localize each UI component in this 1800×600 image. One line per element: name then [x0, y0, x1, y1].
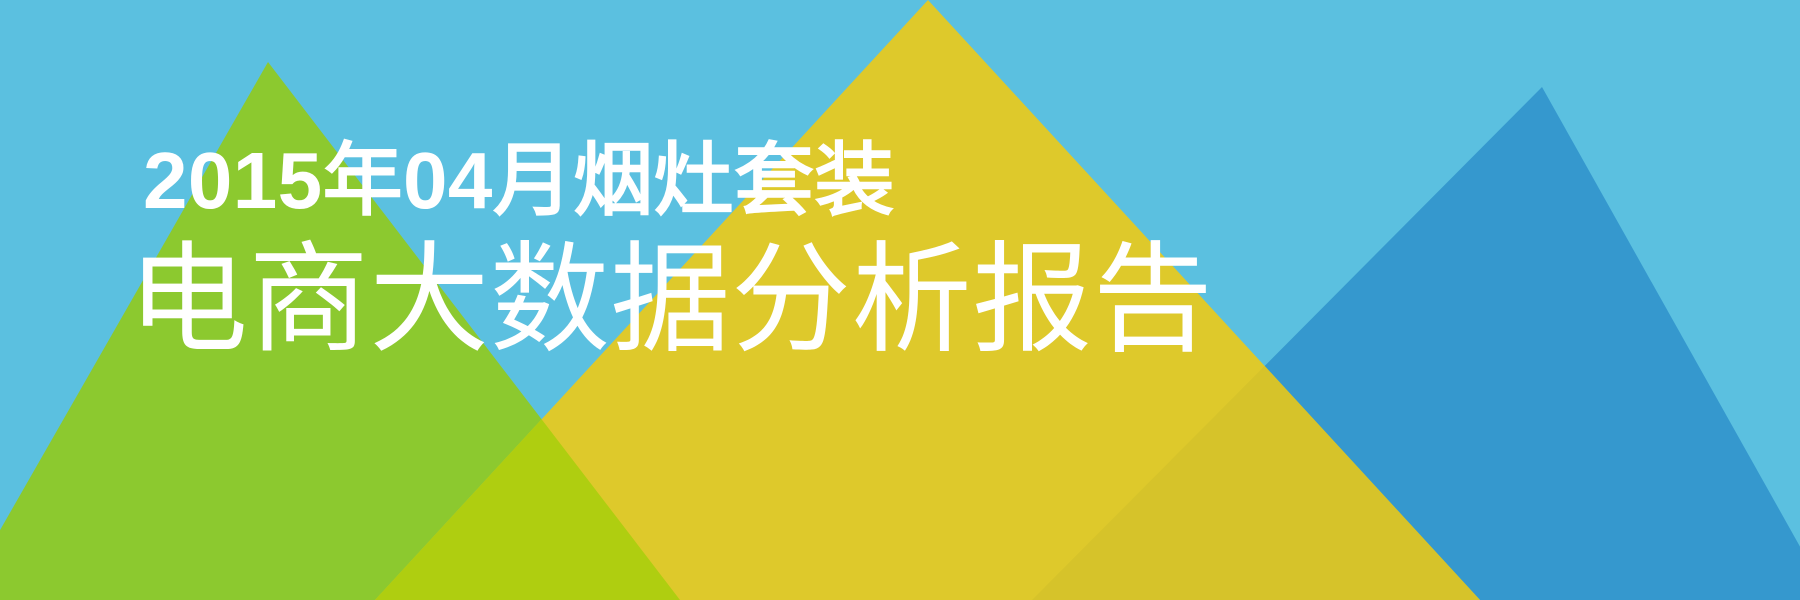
decorative-background-shapes [0, 0, 1800, 600]
report-cover-banner: 2015年04月烟灶套装 电商大数据分析报告 [0, 0, 1800, 600]
